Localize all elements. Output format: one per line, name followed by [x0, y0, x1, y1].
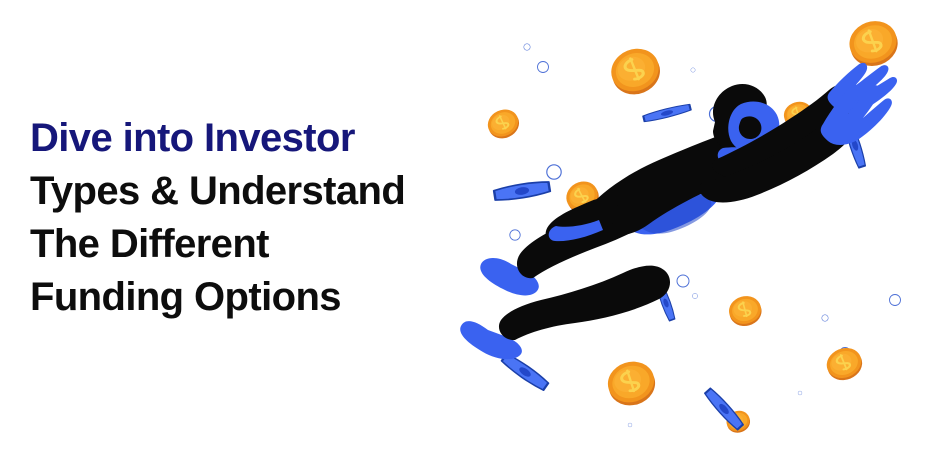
coin-icon	[822, 343, 867, 385]
coin-icon	[605, 42, 667, 102]
coin-group	[483, 15, 903, 436]
bubble-icon	[691, 68, 695, 72]
coin-icon	[726, 293, 765, 330]
bubble-icon	[798, 391, 802, 395]
bubble-icon	[547, 165, 561, 179]
banknote-icon	[704, 387, 745, 430]
headline-line-2: Types & Understand	[30, 165, 470, 218]
coin-icon	[603, 356, 661, 412]
bubble-icon	[628, 423, 632, 427]
coin-icon	[483, 105, 523, 144]
page-title: Dive into Investor Types & Understand Th…	[30, 112, 470, 324]
bubble-icon	[538, 62, 549, 73]
headline-line-3: The Different	[30, 218, 470, 271]
bubble-icon	[510, 230, 520, 240]
banknote-icon	[494, 180, 551, 202]
promo-banner: Dive into Investor Types & Understand Th…	[0, 0, 950, 450]
bubble-icon	[692, 293, 697, 298]
scuba-diver-illustration	[455, 0, 950, 450]
bubble-icon	[677, 275, 689, 287]
headline-line-1: Dive into Investor	[30, 112, 470, 165]
headline-line-4: Funding Options	[30, 271, 470, 324]
bubble-icon	[524, 44, 530, 50]
bubble-icon	[822, 315, 828, 321]
banknote-icon	[643, 103, 691, 123]
coin-icon	[844, 15, 904, 73]
bubble-icon	[890, 295, 901, 306]
